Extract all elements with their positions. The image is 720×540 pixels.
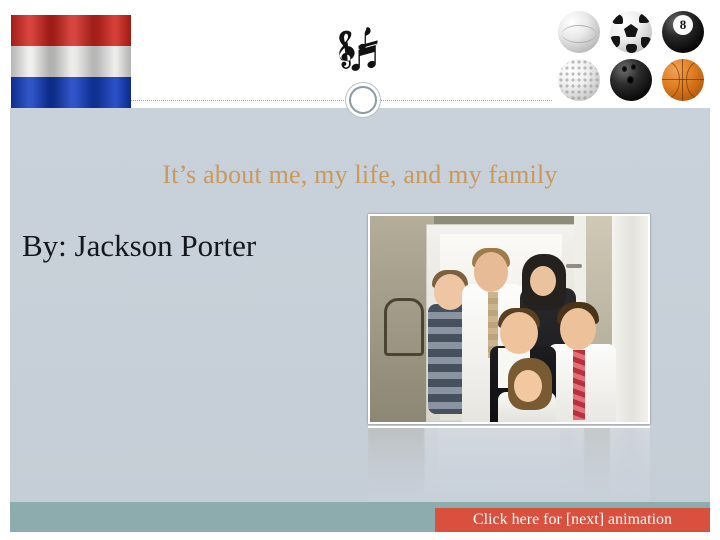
slide-author: By: Jackson Porter	[22, 228, 256, 264]
golf-ball-icon	[558, 59, 600, 101]
soccer-patch	[612, 14, 623, 24]
next-animation-button[interactable]: Click here for [next] animation	[435, 508, 710, 532]
soccer-patch	[610, 36, 620, 48]
photo-person-father-head	[474, 252, 508, 292]
bowling-hole	[622, 66, 627, 72]
photo-door-handle	[566, 264, 582, 268]
bowling-hole	[631, 64, 636, 70]
ball-cell-basketball	[657, 56, 709, 104]
family-photo-reflection	[368, 426, 650, 502]
eight-ball-icon: 8	[662, 11, 704, 53]
soccer-patch	[624, 24, 638, 37]
photo-person-older-boy-head	[560, 308, 596, 350]
ball-cell-volleyball	[553, 8, 605, 56]
slide-title: It’s about me, my life, and my family	[60, 160, 660, 190]
netherlands-flag-icon	[11, 15, 131, 108]
photo-person-mother-face	[530, 266, 556, 296]
family-photo-image	[368, 214, 650, 424]
bowling-hole	[627, 76, 634, 84]
header-ring-inner	[349, 86, 377, 114]
basketball-icon	[662, 59, 704, 101]
soccer-patch	[626, 44, 637, 53]
photo-person-girl-face	[514, 370, 542, 402]
flag-wave-shading	[11, 15, 131, 108]
ball-cell-golf	[553, 56, 605, 104]
music-notes-icon	[330, 22, 400, 88]
basketball-seam	[682, 59, 683, 101]
soccer-ball-icon	[610, 11, 652, 53]
presentation-slide: 8 It’s about me, my life, and my family …	[0, 0, 720, 540]
family-photo	[368, 214, 650, 424]
reflection-fade-overlay	[368, 428, 650, 502]
basketball-seam	[662, 61, 680, 99]
soccer-patch	[639, 13, 650, 23]
photo-curtain	[612, 216, 650, 422]
ball-cell-soccer	[605, 8, 657, 56]
bowling-ball-icon	[610, 59, 652, 101]
photo-wall-hook	[384, 298, 424, 356]
ball-cell-eight-ball: 8	[657, 8, 709, 56]
basketball-seam	[686, 61, 704, 99]
ball-cell-bowling	[605, 56, 657, 104]
volleyball-icon	[558, 11, 600, 53]
sports-balls-collage: 8	[553, 8, 709, 104]
soccer-patch	[641, 37, 651, 49]
photo-person-middle-boy-head	[500, 312, 538, 354]
eight-ball-number: 8	[673, 15, 693, 35]
photo-person-older-boy-tie	[573, 350, 585, 420]
